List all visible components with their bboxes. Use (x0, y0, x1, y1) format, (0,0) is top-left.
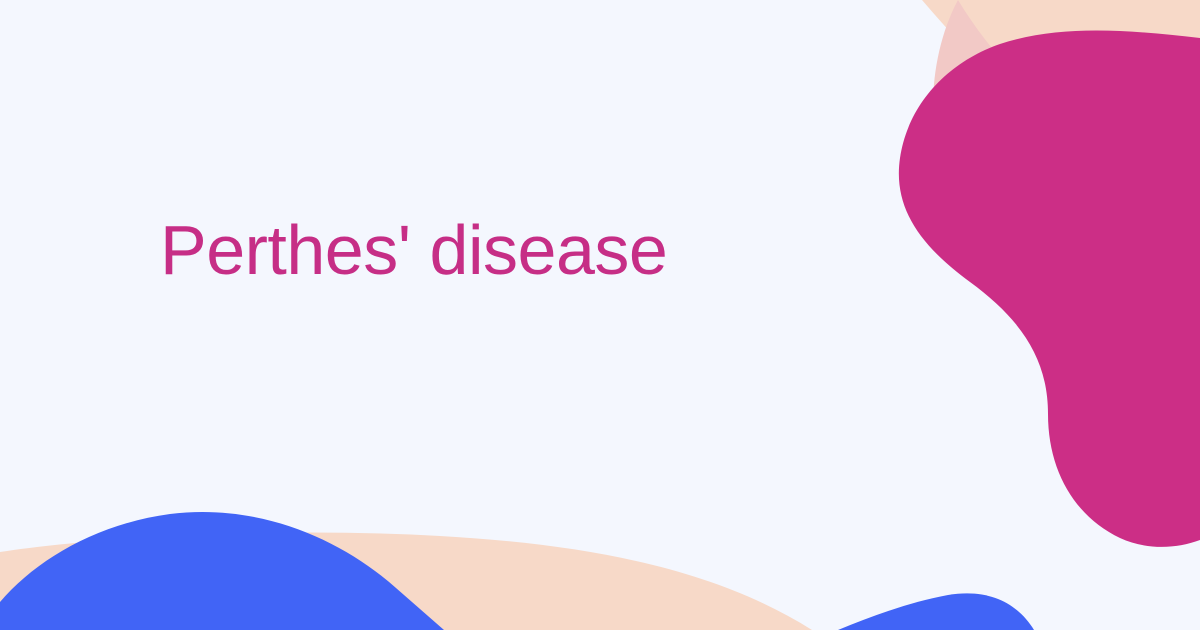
title-container: Perthes' disease (160, 214, 860, 287)
rose-blob-top-right-shape (933, 0, 1200, 386)
share-card: Perthes' disease (0, 0, 1200, 630)
peach-blob-bottom-left-shape (0, 533, 812, 630)
peach-blob-top-right-shape (922, 0, 1200, 214)
blue-blob-bottom-right-shape (838, 593, 1034, 630)
magenta-blob-right-shape (899, 31, 1200, 547)
page-title: Perthes' disease (160, 214, 860, 287)
decorative-background (0, 0, 1200, 630)
blue-blob-bottom-left-shape (0, 512, 444, 630)
